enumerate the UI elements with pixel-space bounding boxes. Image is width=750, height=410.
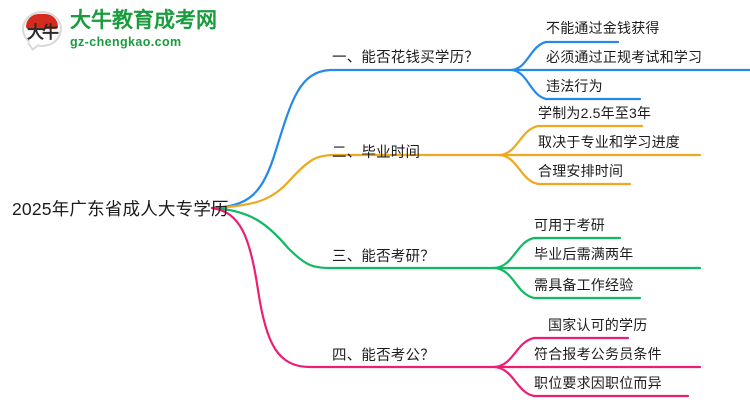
leaf-label-1-2[interactable]: 必须通过正规考试和学习 — [546, 47, 702, 67]
leaf-label-3-2[interactable]: 毕业后需满两年 — [534, 244, 633, 264]
leaf-label-3-1[interactable]: 可用于考研 — [534, 215, 605, 235]
leaf-label-2-3[interactable]: 合理安排时间 — [538, 161, 623, 181]
leaf-label-4-2[interactable]: 符合报考公务员条件 — [534, 344, 662, 364]
leaf-label-3-3[interactable]: 需具备工作经验 — [534, 275, 633, 295]
root-to-branch-1-curve — [212, 70, 512, 208]
leaf-label-2-2[interactable]: 取决于专业和学习进度 — [538, 132, 680, 152]
leaf-label-4-1[interactable]: 国家认可的学历 — [548, 315, 647, 335]
root-node-label[interactable]: 2025年广东省成人大专学历 — [12, 196, 229, 221]
branch-label-2[interactable]: 二、毕业时间 — [332, 141, 420, 162]
mindmap-canvas: 大牛 大牛教育成考网 gz-chengkao.com 2025年广东省成人大专学… — [0, 0, 750, 410]
leaf-label-2-1[interactable]: 学制为2.5年至3年 — [538, 103, 651, 123]
leaf-label-4-3[interactable]: 职位要求因职位而异 — [534, 373, 662, 393]
leaf-label-1-3[interactable]: 违法行为 — [546, 76, 603, 96]
branch-label-4[interactable]: 四、能否考公？ — [332, 344, 435, 365]
branch-label-1[interactable]: 一、能否花钱买学历？ — [332, 46, 479, 67]
branch-label-3[interactable]: 三、能否考研？ — [332, 245, 435, 266]
root-to-branch-2-curve — [212, 155, 500, 208]
leaf-label-1-1[interactable]: 不能通过金钱获得 — [546, 18, 660, 38]
